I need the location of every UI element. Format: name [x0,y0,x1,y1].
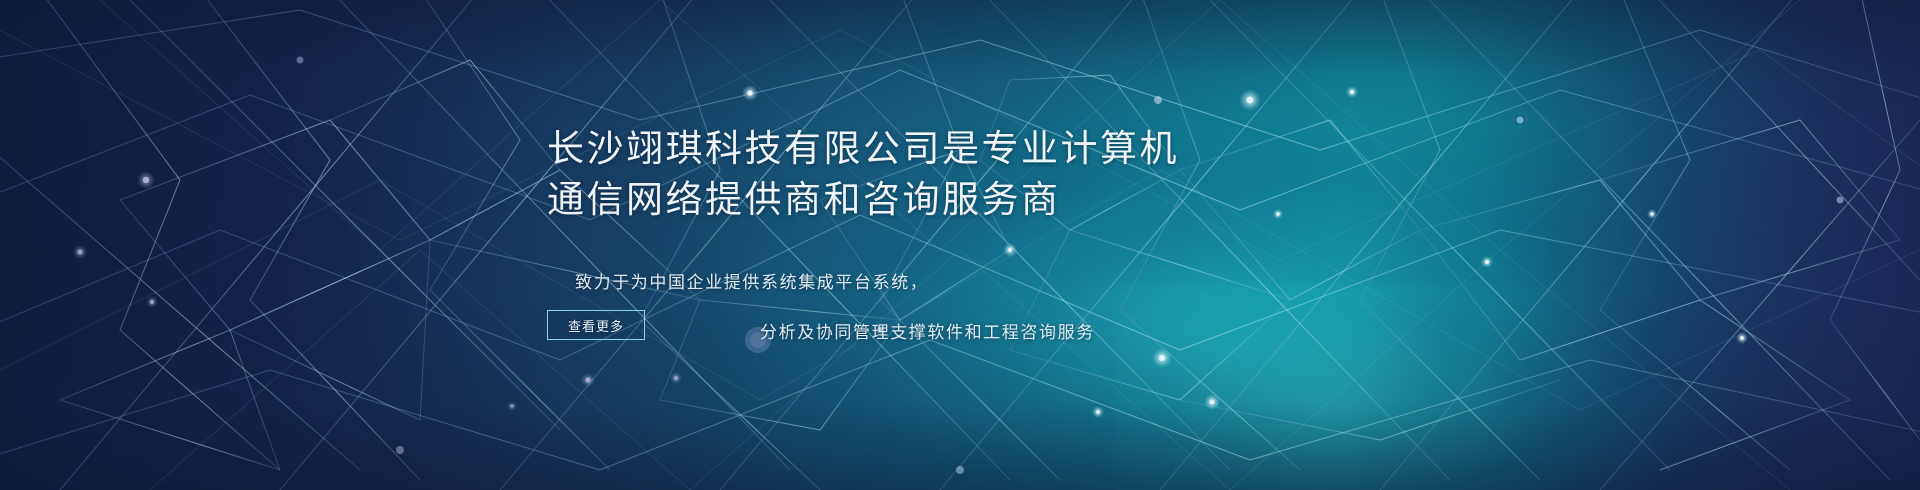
subtitle-line-2: 分析及协同管理支撑软件和工程咨询服务 [760,318,1095,343]
banner-content: 长沙翊琪科技有限公司是专业计算机 通信网络提供商和咨询服务商 致力于为中国企业提… [0,0,1920,490]
headline-line-2: 通信网络提供商和咨询服务商 [547,174,1179,225]
headline-line-1: 长沙翊琪科技有限公司是专业计算机 [547,123,1179,174]
page-title: 长沙翊琪科技有限公司是专业计算机 通信网络提供商和咨询服务商 [547,123,1179,225]
subtitle-line-1: 致力于为中国企业提供系统集成平台系统， [575,268,928,293]
view-more-button[interactable]: 查看更多 [547,310,645,340]
hero-banner: 长沙翊琪科技有限公司是专业计算机 通信网络提供商和咨询服务商 致力于为中国企业提… [0,0,1920,490]
